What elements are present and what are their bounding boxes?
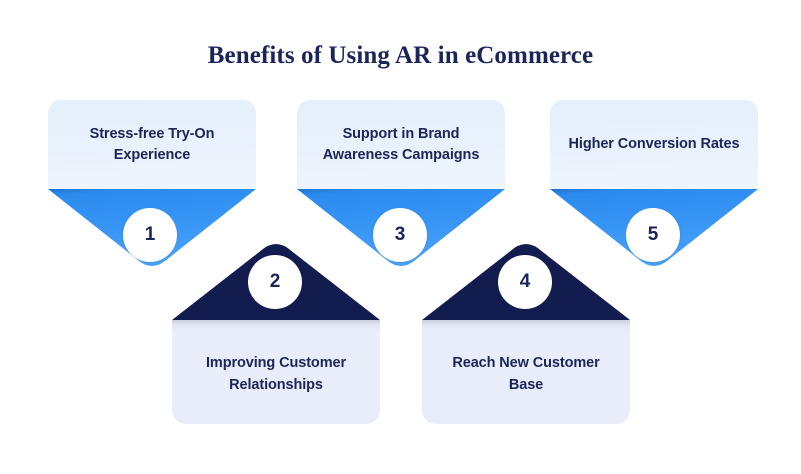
step-4-label-box: Reach New Customer Base (422, 320, 630, 424)
step-3-number-badge: 3 (373, 208, 427, 262)
step-1-number-badge: 1 (123, 208, 177, 262)
page-title: Benefits of Using AR in eCommerce (0, 41, 801, 71)
step-1-number: 1 (145, 224, 156, 246)
step-3-label: Support in Brand Awareness Campaigns (297, 124, 505, 166)
step-4-number: 4 (520, 271, 531, 293)
step-5-number-badge: 5 (626, 208, 680, 262)
step-4-number-badge: 4 (498, 255, 552, 309)
step-2-label-box: Improving Customer Relationships (172, 320, 380, 424)
step-2-number-badge: 2 (248, 255, 302, 309)
step-2-label: Improving Customer Relationships (172, 348, 380, 396)
step-5-number: 5 (648, 224, 659, 246)
step-5-label-box: Higher Conversion Rates (550, 100, 758, 189)
step-2-number: 2 (270, 271, 281, 293)
infographic-canvas: Benefits of Using AR in eCommerce Stress… (0, 0, 801, 474)
step-1-label: Stress-free Try-On Experience (48, 124, 256, 166)
step-3-number: 3 (395, 224, 406, 246)
step-4-label: Reach New Customer Base (422, 348, 630, 396)
step-1-label-box: Stress-free Try-On Experience (48, 100, 256, 189)
step-5-label: Higher Conversion Rates (559, 134, 750, 155)
step-3-label-box: Support in Brand Awareness Campaigns (297, 100, 505, 189)
